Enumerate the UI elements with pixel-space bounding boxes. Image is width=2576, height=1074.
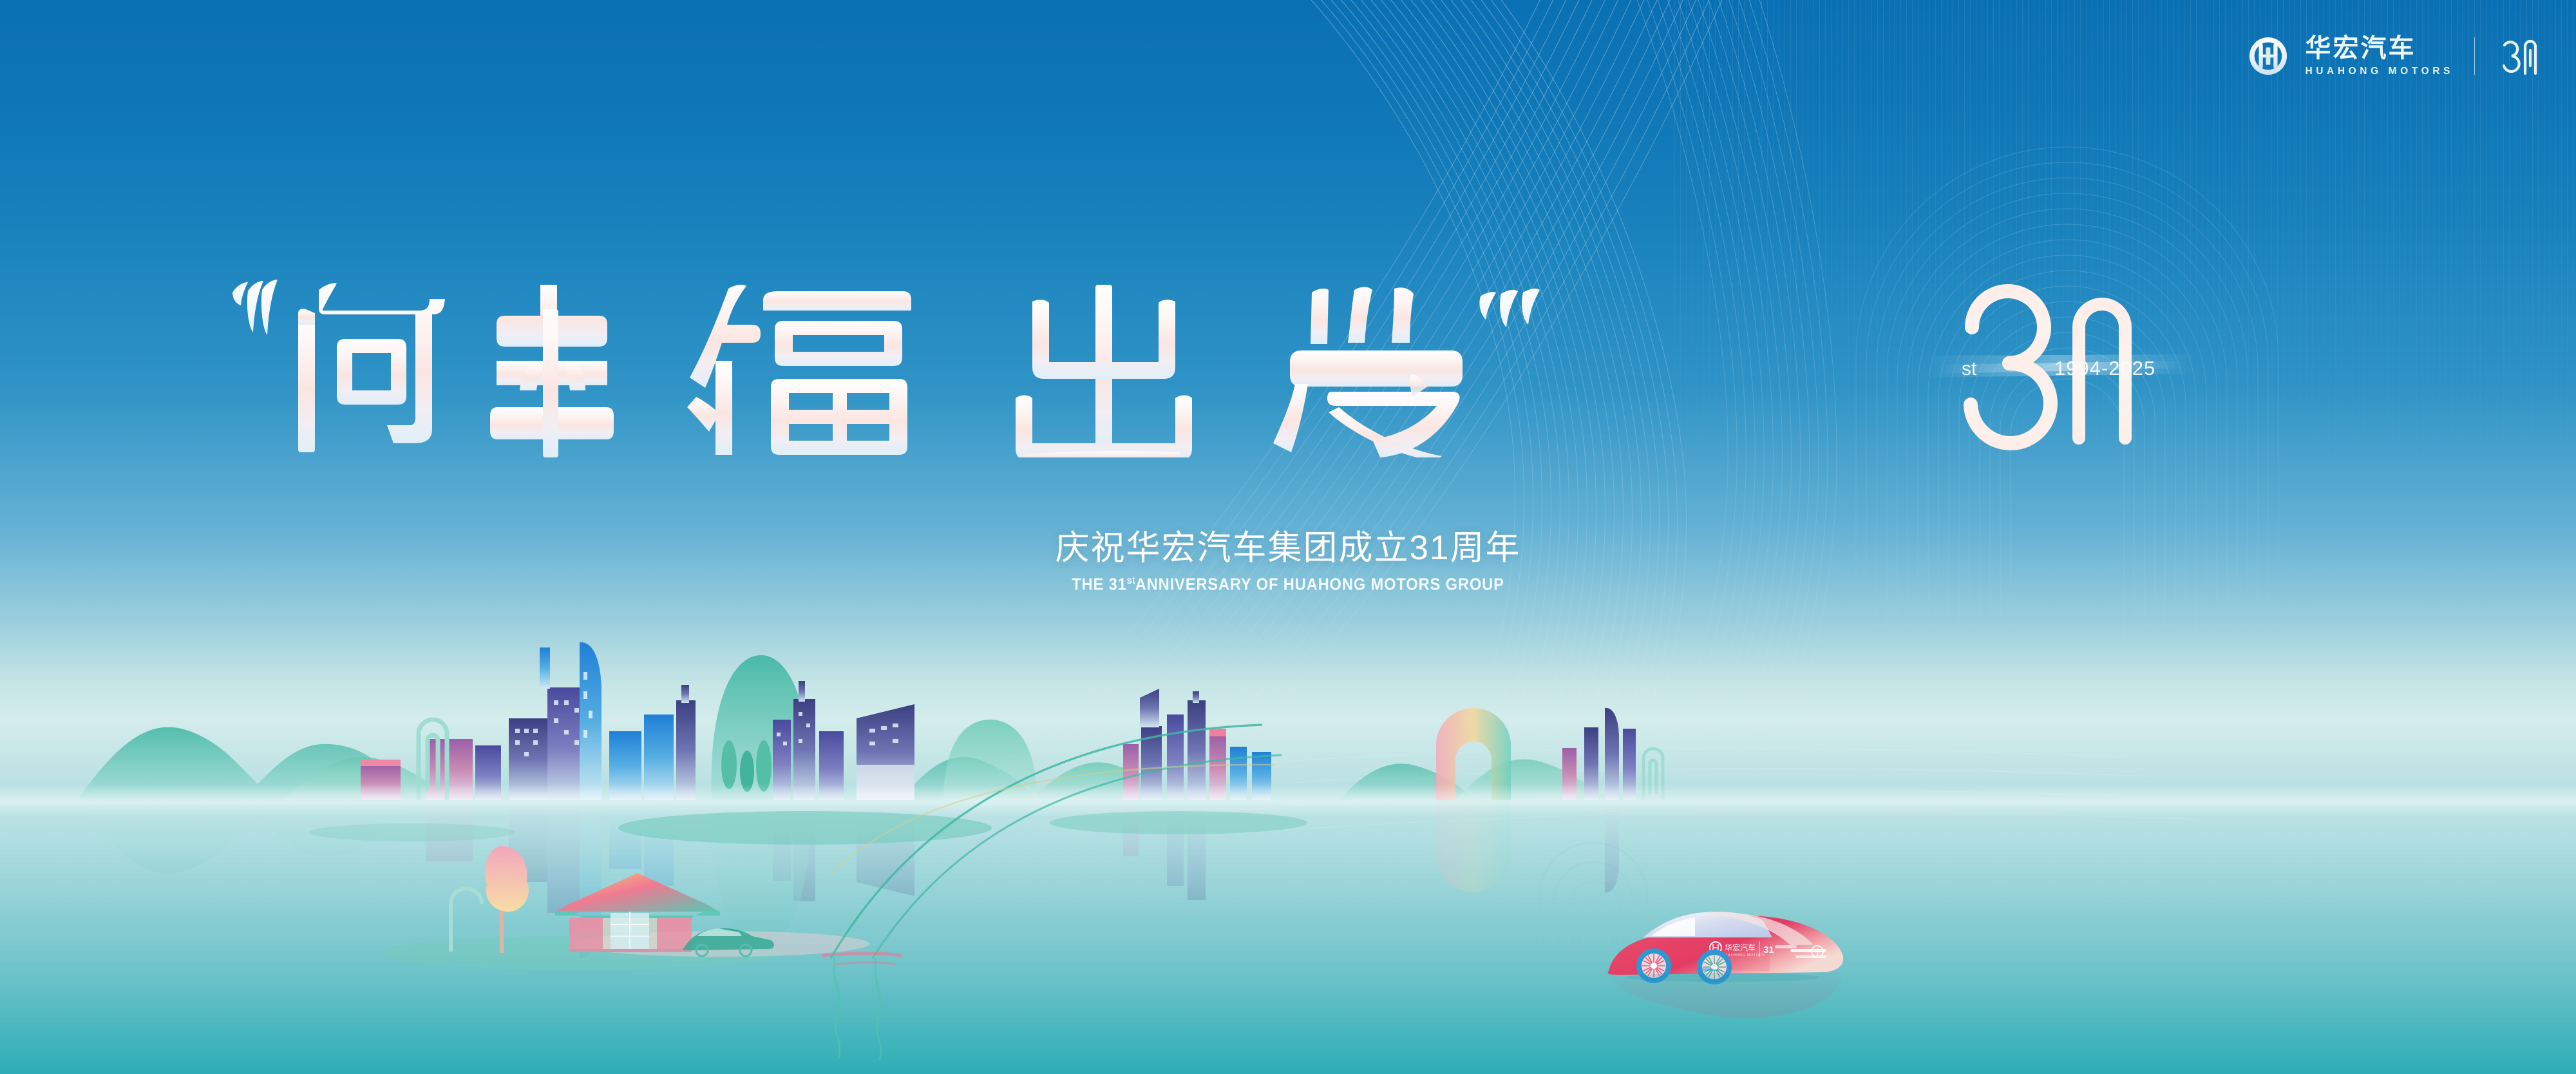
character-chu	[1016, 285, 1192, 457]
character-fu	[687, 285, 911, 455]
car-door-logo-cn: 华宏汽车	[1725, 943, 1756, 952]
car-door-badge: 31	[1763, 945, 1774, 955]
anniversary-31-emblem: st 1994-2025	[1926, 258, 2196, 470]
car-shadow	[1627, 973, 1820, 982]
skyline-main	[361, 642, 914, 800]
character-xiang	[298, 283, 445, 452]
emblem-year-range: 1994-2025	[2054, 357, 2155, 379]
brand-name-en: HUAHONG MOTORS	[2305, 66, 2454, 77]
close-quote-mark	[1479, 289, 1540, 327]
subtitle-cn: 庆祝华宏汽车集团成立31周年	[0, 528, 2576, 569]
anniversary-poster: 华宏汽车 HUAHONG MOTORS	[0, 0, 2576, 1074]
headline-xiang-xing-fu-chu-fa	[229, 271, 1594, 457]
landmark-tower	[580, 642, 601, 800]
brand-name-cn: 华宏汽车	[2305, 35, 2454, 61]
open-quote-mark	[232, 280, 278, 335]
brand-31-badge-icon	[2495, 36, 2541, 76]
brand-lockup: 华宏汽车 HUAHONG MOTORS	[2248, 35, 2541, 77]
character-xing	[490, 285, 614, 457]
emblem-ordinal-st: st	[1962, 358, 1977, 379]
car-door-logo-en: HUAHONG MOTORS	[1725, 954, 1765, 957]
city-skyline-waterfront-illustration	[0, 571, 2576, 1074]
huahong-circle-h-logo-icon	[2248, 36, 2288, 76]
brand-divider	[2474, 37, 2475, 75]
character-fa	[1273, 287, 1463, 458]
brand-wordmark: 华宏汽车 HUAHONG MOTORS	[2305, 35, 2454, 77]
huahong-concept-car: 华宏汽车 HUAHONG MOTORS 31	[1597, 873, 1868, 1028]
